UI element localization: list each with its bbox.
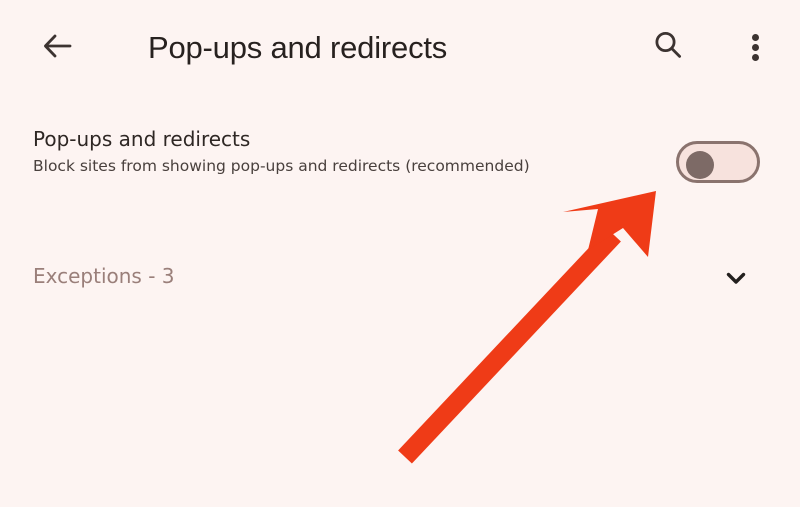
chevron-down-icon xyxy=(721,263,751,297)
more-vert-icon xyxy=(752,31,759,64)
page-title: Pop-ups and redirects xyxy=(148,0,447,95)
exceptions-label: Exceptions - 3 xyxy=(33,264,175,288)
toggle-thumb xyxy=(686,151,714,179)
search-icon xyxy=(650,27,686,67)
exceptions-row[interactable]: Exceptions - 3 xyxy=(0,252,800,306)
search-button[interactable] xyxy=(640,19,696,75)
app-bar: Pop-ups and redirects xyxy=(0,0,800,95)
back-arrow-icon xyxy=(39,27,77,69)
settings-screen: Pop-ups and redirects Pop-ups and redire… xyxy=(0,0,800,507)
setting-title: Pop-ups and redirects xyxy=(33,126,633,152)
setting-subtitle: Block sites from showing pop-ups and red… xyxy=(33,156,633,176)
back-button[interactable] xyxy=(30,20,86,76)
pop-ups-and-redirects-toggle[interactable] xyxy=(676,141,760,183)
overflow-menu-button[interactable] xyxy=(727,19,783,75)
setting-text-block: Pop-ups and redirects Block sites from s… xyxy=(33,126,633,176)
exceptions-expand-button[interactable] xyxy=(712,256,760,304)
